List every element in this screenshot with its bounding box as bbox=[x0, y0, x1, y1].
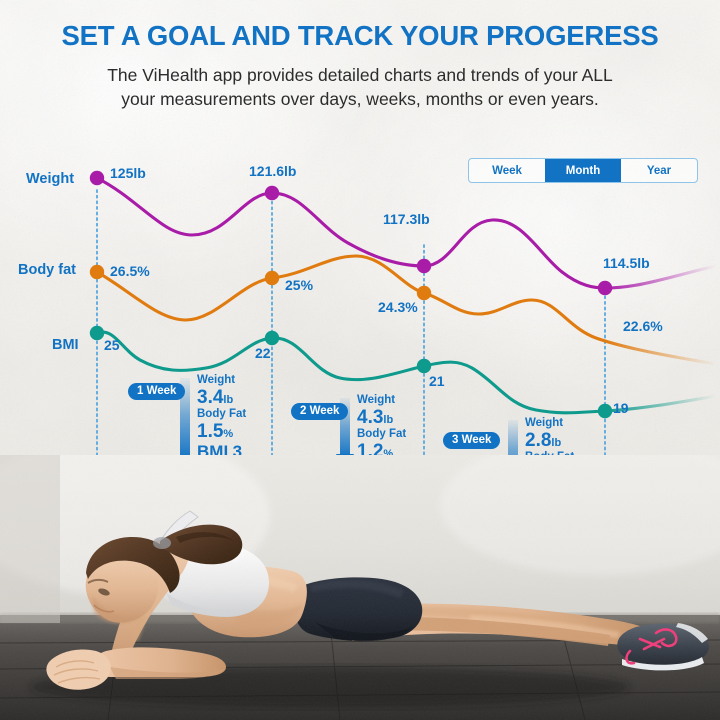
subtitle-line-2: your measurements over days, weeks, mont… bbox=[40, 87, 680, 111]
series-label-weight: Weight bbox=[26, 171, 74, 187]
page-title: SET A GOAL AND TRACK YOUR PROGERESS bbox=[0, 22, 720, 51]
subtitle-line-1: The ViHealth app provides detailed chart… bbox=[40, 63, 680, 87]
range-option-year[interactable]: Year bbox=[621, 159, 697, 182]
header: SET A GOAL AND TRACK YOUR PROGERESS The … bbox=[0, 0, 720, 111]
weight-value-1: 125lb bbox=[110, 165, 146, 181]
bodyfat-value-3: 24.3% bbox=[378, 299, 418, 315]
bodyfat-value-4: 22.6% bbox=[623, 318, 663, 334]
bodyfat-value-1: 26.5% bbox=[110, 263, 150, 279]
bmi-value-1: 25 bbox=[104, 337, 120, 353]
annotation-group-3: 3 Week bbox=[443, 430, 500, 449]
fitness-photo bbox=[0, 455, 720, 720]
week-badge-2[interactable]: 2 Week bbox=[291, 403, 348, 421]
bodyfat-point-3[interactable] bbox=[417, 286, 431, 300]
series-label-bodyfat: Body fat bbox=[18, 262, 76, 278]
range-selector[interactable]: Week Month Year bbox=[468, 158, 698, 183]
weight-series-line bbox=[97, 178, 716, 288]
bmi-point-3[interactable] bbox=[417, 359, 431, 373]
bmi-value-2: 22 bbox=[255, 345, 271, 361]
bmi-point-2[interactable] bbox=[265, 331, 279, 345]
weight-value-4: 114.5lb bbox=[603, 255, 650, 271]
weight-value-3: 117.3lb bbox=[383, 211, 430, 227]
bodyfat-point-2[interactable] bbox=[265, 271, 279, 285]
range-option-month[interactable]: Month bbox=[545, 159, 621, 182]
weight-point-1[interactable] bbox=[90, 171, 104, 185]
bodyfat-point-1[interactable] bbox=[90, 265, 104, 279]
weight-point-4[interactable] bbox=[598, 281, 612, 295]
series-label-bmi: BMI bbox=[52, 337, 79, 353]
week-badge-1[interactable]: 1 Week bbox=[128, 383, 185, 401]
promo-graphic: SET A GOAL AND TRACK YOUR PROGERESS The … bbox=[0, 0, 720, 720]
bodyfat-value-2: 25% bbox=[285, 277, 313, 293]
annotation-group-1: 1 Week bbox=[128, 381, 185, 400]
bmi-value-3: 21 bbox=[429, 373, 445, 389]
page-subtitle: The ViHealth app provides detailed chart… bbox=[40, 63, 680, 111]
week-badge-3[interactable]: 3 Week bbox=[443, 432, 500, 450]
bmi-point-1[interactable] bbox=[90, 326, 104, 340]
annotation-group-2: 2 Week bbox=[291, 401, 348, 420]
weight-point-2[interactable] bbox=[265, 186, 279, 200]
weight-value-2: 121.6lb bbox=[249, 163, 296, 179]
range-option-week[interactable]: Week bbox=[469, 159, 545, 182]
bmi-value-4: 19 bbox=[613, 400, 629, 416]
weight-point-3[interactable] bbox=[417, 259, 431, 273]
bmi-point-4[interactable] bbox=[598, 404, 612, 418]
